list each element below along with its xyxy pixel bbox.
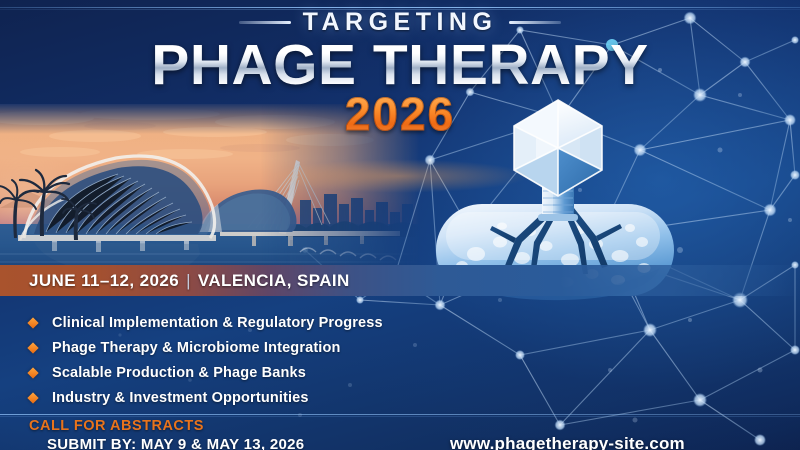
topics-list: Clinical Implementation & Regulatory Pro… bbox=[29, 312, 383, 412]
list-item: Scalable Production & Phage Banks bbox=[29, 362, 383, 384]
headline-block: TARGETING PHAGE THERAPY 2026 bbox=[0, 8, 800, 137]
topic-label: Clinical Implementation & Regulatory Pro… bbox=[52, 315, 383, 331]
footer-divider-line bbox=[0, 414, 800, 415]
conference-banner: TARGETING PHAGE THERAPY 2026 JUNE 11–12,… bbox=[0, 0, 800, 450]
topic-label: Scalable Production & Phage Banks bbox=[52, 365, 306, 381]
eyebrow-rule-right bbox=[509, 21, 561, 24]
diamond-icon bbox=[27, 392, 38, 403]
hemisferic-building bbox=[18, 156, 216, 252]
list-item: Phage Therapy & Microbiome Integration bbox=[29, 337, 383, 359]
event-year: 2026 bbox=[0, 91, 800, 137]
call-for-abstracts-heading: CALL FOR ABSTRACTS bbox=[29, 418, 204, 434]
event-title: PHAGE THERAPY bbox=[0, 36, 800, 94]
event-dates: JUNE 11–12, 2026 bbox=[29, 271, 179, 291]
diamond-icon bbox=[27, 342, 38, 353]
diamond-icon bbox=[27, 317, 38, 328]
list-item: Clinical Implementation & Regulatory Pro… bbox=[29, 312, 383, 334]
event-location: VALENCIA, SPAIN bbox=[198, 271, 350, 291]
submission-deadline: SUBMIT BY: MAY 9 & MAY 13, 2026 bbox=[47, 436, 304, 450]
website-url[interactable]: www.phagetherapy-site.com bbox=[450, 434, 685, 450]
diamond-icon bbox=[27, 367, 38, 378]
topic-label: Industry & Investment Opportunities bbox=[52, 390, 309, 406]
eyebrow-rule-left bbox=[239, 21, 291, 24]
date-location-separator: | bbox=[186, 271, 191, 291]
list-item: Industry & Investment Opportunities bbox=[29, 387, 383, 409]
topic-label: Phage Therapy & Microbiome Integration bbox=[52, 340, 341, 356]
footer-divider-line-secondary bbox=[0, 416, 800, 417]
date-location-bar: JUNE 11–12, 2026 | VALENCIA, SPAIN bbox=[0, 265, 800, 296]
